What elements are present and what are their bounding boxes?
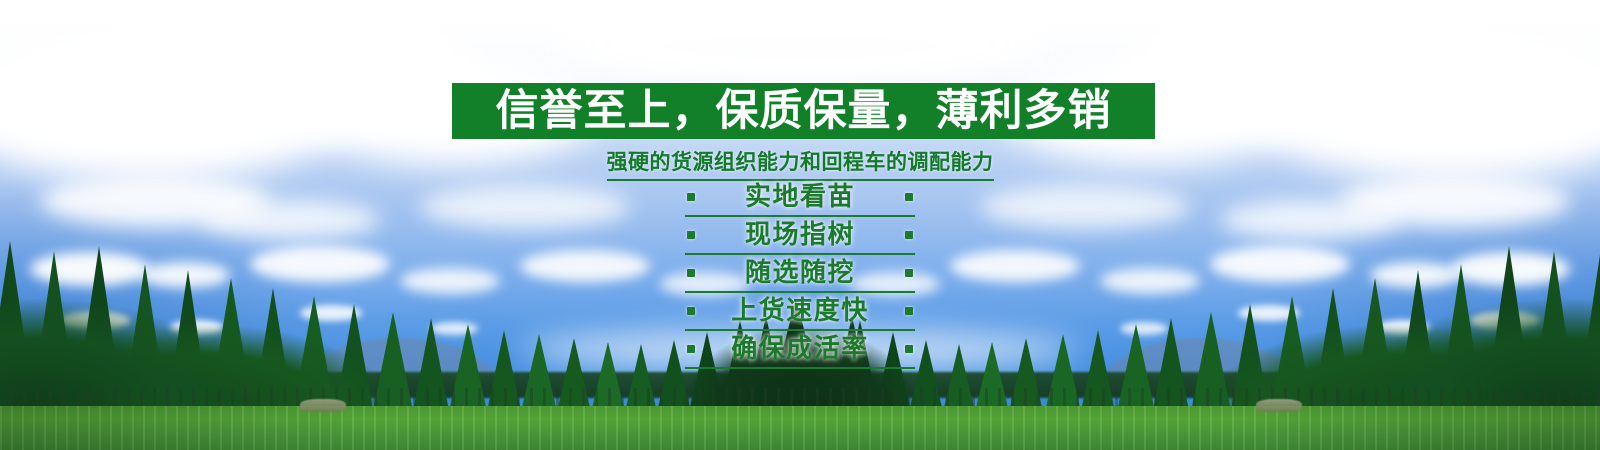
bullet-dot-right-icon: [905, 307, 913, 315]
feature-label-1: 实地看苗: [745, 184, 855, 210]
bullet-dot-right-icon: [905, 193, 913, 201]
bullet-dot-right-icon: [905, 269, 913, 277]
feature-label-3: 随选随挖: [745, 260, 855, 286]
feature-item-1: 实地看苗: [685, 179, 915, 217]
feature-list: 实地看苗 现场指树 随选随挖 上货速度快 确保成活率: [0, 179, 1600, 369]
feature-item-2: 现场指树: [685, 217, 915, 255]
subtitle-text: 强硬的货源组织能力和回程车的调配能力: [607, 146, 994, 181]
text-overlay: 信誉至上，保质保量，薄利多销 强硬的货源组织能力和回程车的调配能力 实地看苗 现…: [0, 0, 1600, 450]
subtitle-row: 强硬的货源组织能力和回程车的调配能力: [0, 146, 1600, 181]
feature-item-3: 随选随挖: [685, 255, 915, 293]
bullet-dot-right-icon: [905, 345, 913, 353]
bullet-dot-left-icon: [687, 307, 695, 315]
feature-label-2: 现场指树: [745, 222, 855, 248]
feature-label-4: 上货速度快: [731, 298, 869, 324]
bullet-dot-left-icon: [687, 193, 695, 201]
feature-item-4: 上货速度快: [685, 293, 915, 331]
bullet-dot-left-icon: [687, 345, 695, 353]
headline-text: 信誉至上，保质保量，薄利多销: [496, 90, 1112, 133]
feature-item-5: 确保成活率: [685, 331, 915, 369]
bullet-dot-right-icon: [905, 231, 913, 239]
feature-label-5: 确保成活率: [731, 336, 869, 362]
promo-banner: 信誉至上，保质保量，薄利多销 强硬的货源组织能力和回程车的调配能力 实地看苗 现…: [0, 0, 1600, 450]
bullet-dot-left-icon: [687, 231, 695, 239]
bullet-dot-left-icon: [687, 269, 695, 277]
headline-band: 信誉至上，保质保量，薄利多销: [452, 83, 1155, 139]
